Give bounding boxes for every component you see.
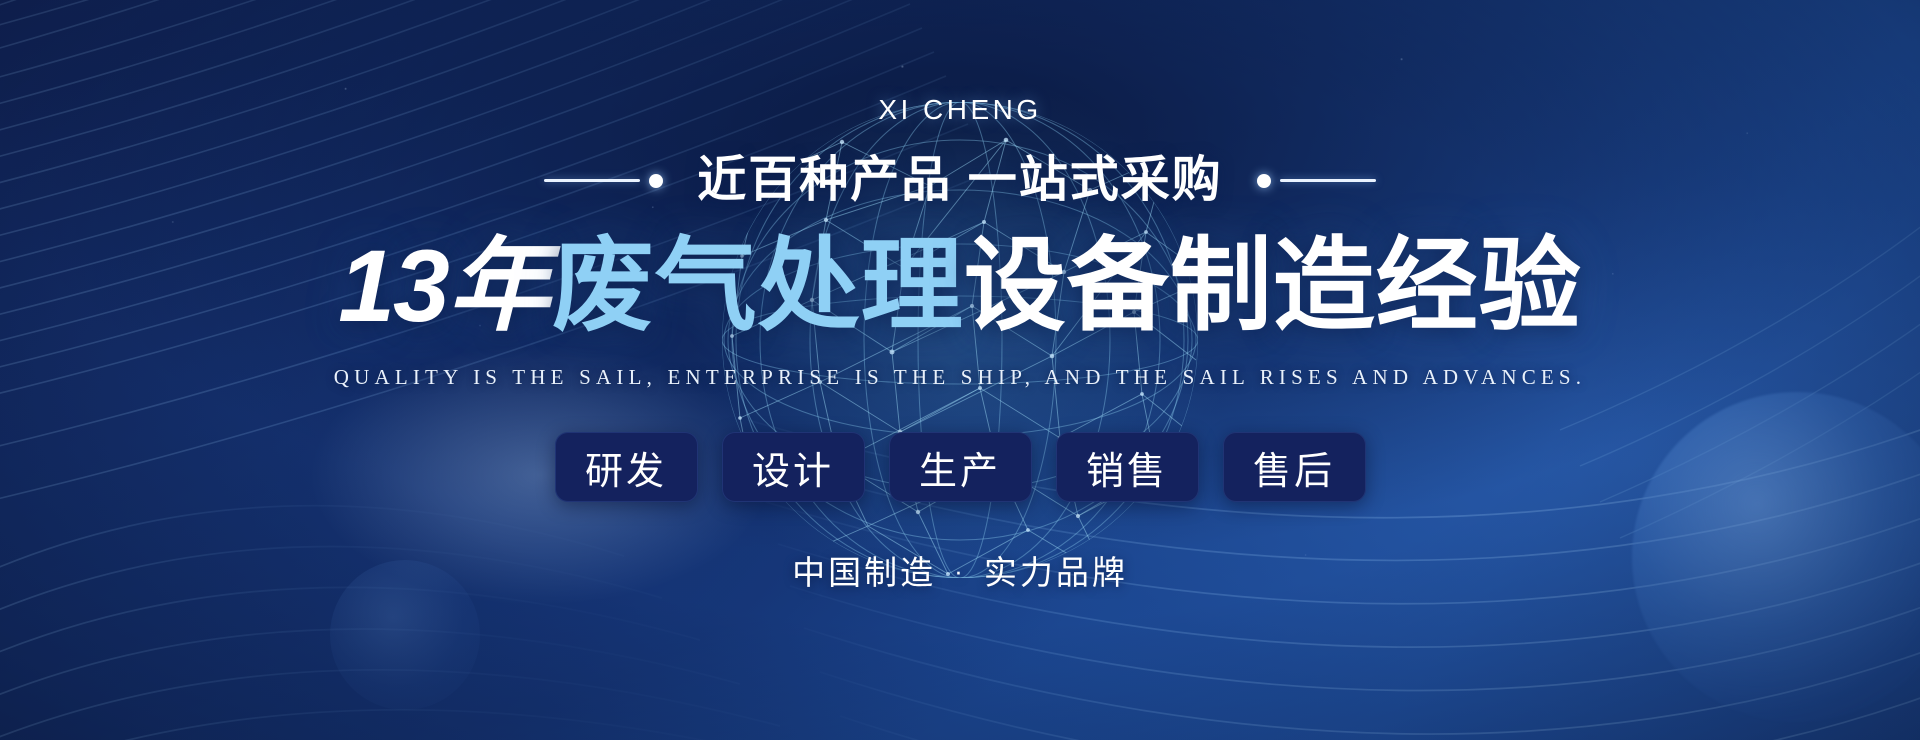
service-pill-label: 设计 xyxy=(752,440,834,495)
deco-bar-right xyxy=(1280,179,1376,182)
banner-content: XI CHENG 近百种产品 一站式采购 13年废气处理设备制造经验 QUALI… xyxy=(0,0,1920,740)
deco-bar-left xyxy=(544,179,640,182)
service-pill-label: 销售 xyxy=(1086,440,1168,495)
footer-separator-dot: · xyxy=(936,556,984,586)
service-pill-aftersales[interactable]: 售后 xyxy=(1223,432,1366,502)
main-headline: 13年废气处理设备制造经验 xyxy=(338,229,1581,343)
service-pill-production[interactable]: 生产 xyxy=(889,432,1032,502)
service-pill-design[interactable]: 设计 xyxy=(722,432,865,502)
deco-line-right xyxy=(1257,174,1376,188)
footer-slogan: 中国制造·实力品牌 xyxy=(792,546,1128,594)
deco-dot-left xyxy=(649,174,663,188)
footer-slogan-right: 实力品牌 xyxy=(984,554,1128,591)
service-pill-label: 售后 xyxy=(1253,440,1335,495)
service-pill-label: 研发 xyxy=(585,440,667,495)
subheadline-text: 近百种产品 一站式采购 xyxy=(697,156,1223,205)
brand-name-en: XI CHENG xyxy=(878,96,1041,124)
headline-tail: 设备制造经验 xyxy=(964,229,1582,343)
headline-years: 13年 xyxy=(338,229,551,343)
english-tagline: QUALITY IS THE SAIL, ENTERPRISE IS THE S… xyxy=(334,365,1587,390)
deco-line-left xyxy=(544,174,663,188)
subheadline-row: 近百种产品 一站式采购 xyxy=(544,156,1376,205)
service-pill-rd[interactable]: 研发 xyxy=(555,432,698,502)
service-pill-row: 研发 设计 生产 销售 售后 xyxy=(555,432,1366,502)
service-pill-label: 生产 xyxy=(919,440,1001,495)
deco-dot-right xyxy=(1257,174,1271,188)
footer-slogan-left: 中国制造 xyxy=(792,554,936,591)
service-pill-sales[interactable]: 销售 xyxy=(1056,432,1199,502)
headline-accent: 废气处理 xyxy=(552,229,964,343)
hero-banner: XI CHENG 近百种产品 一站式采购 13年废气处理设备制造经验 QUALI… xyxy=(0,0,1920,740)
